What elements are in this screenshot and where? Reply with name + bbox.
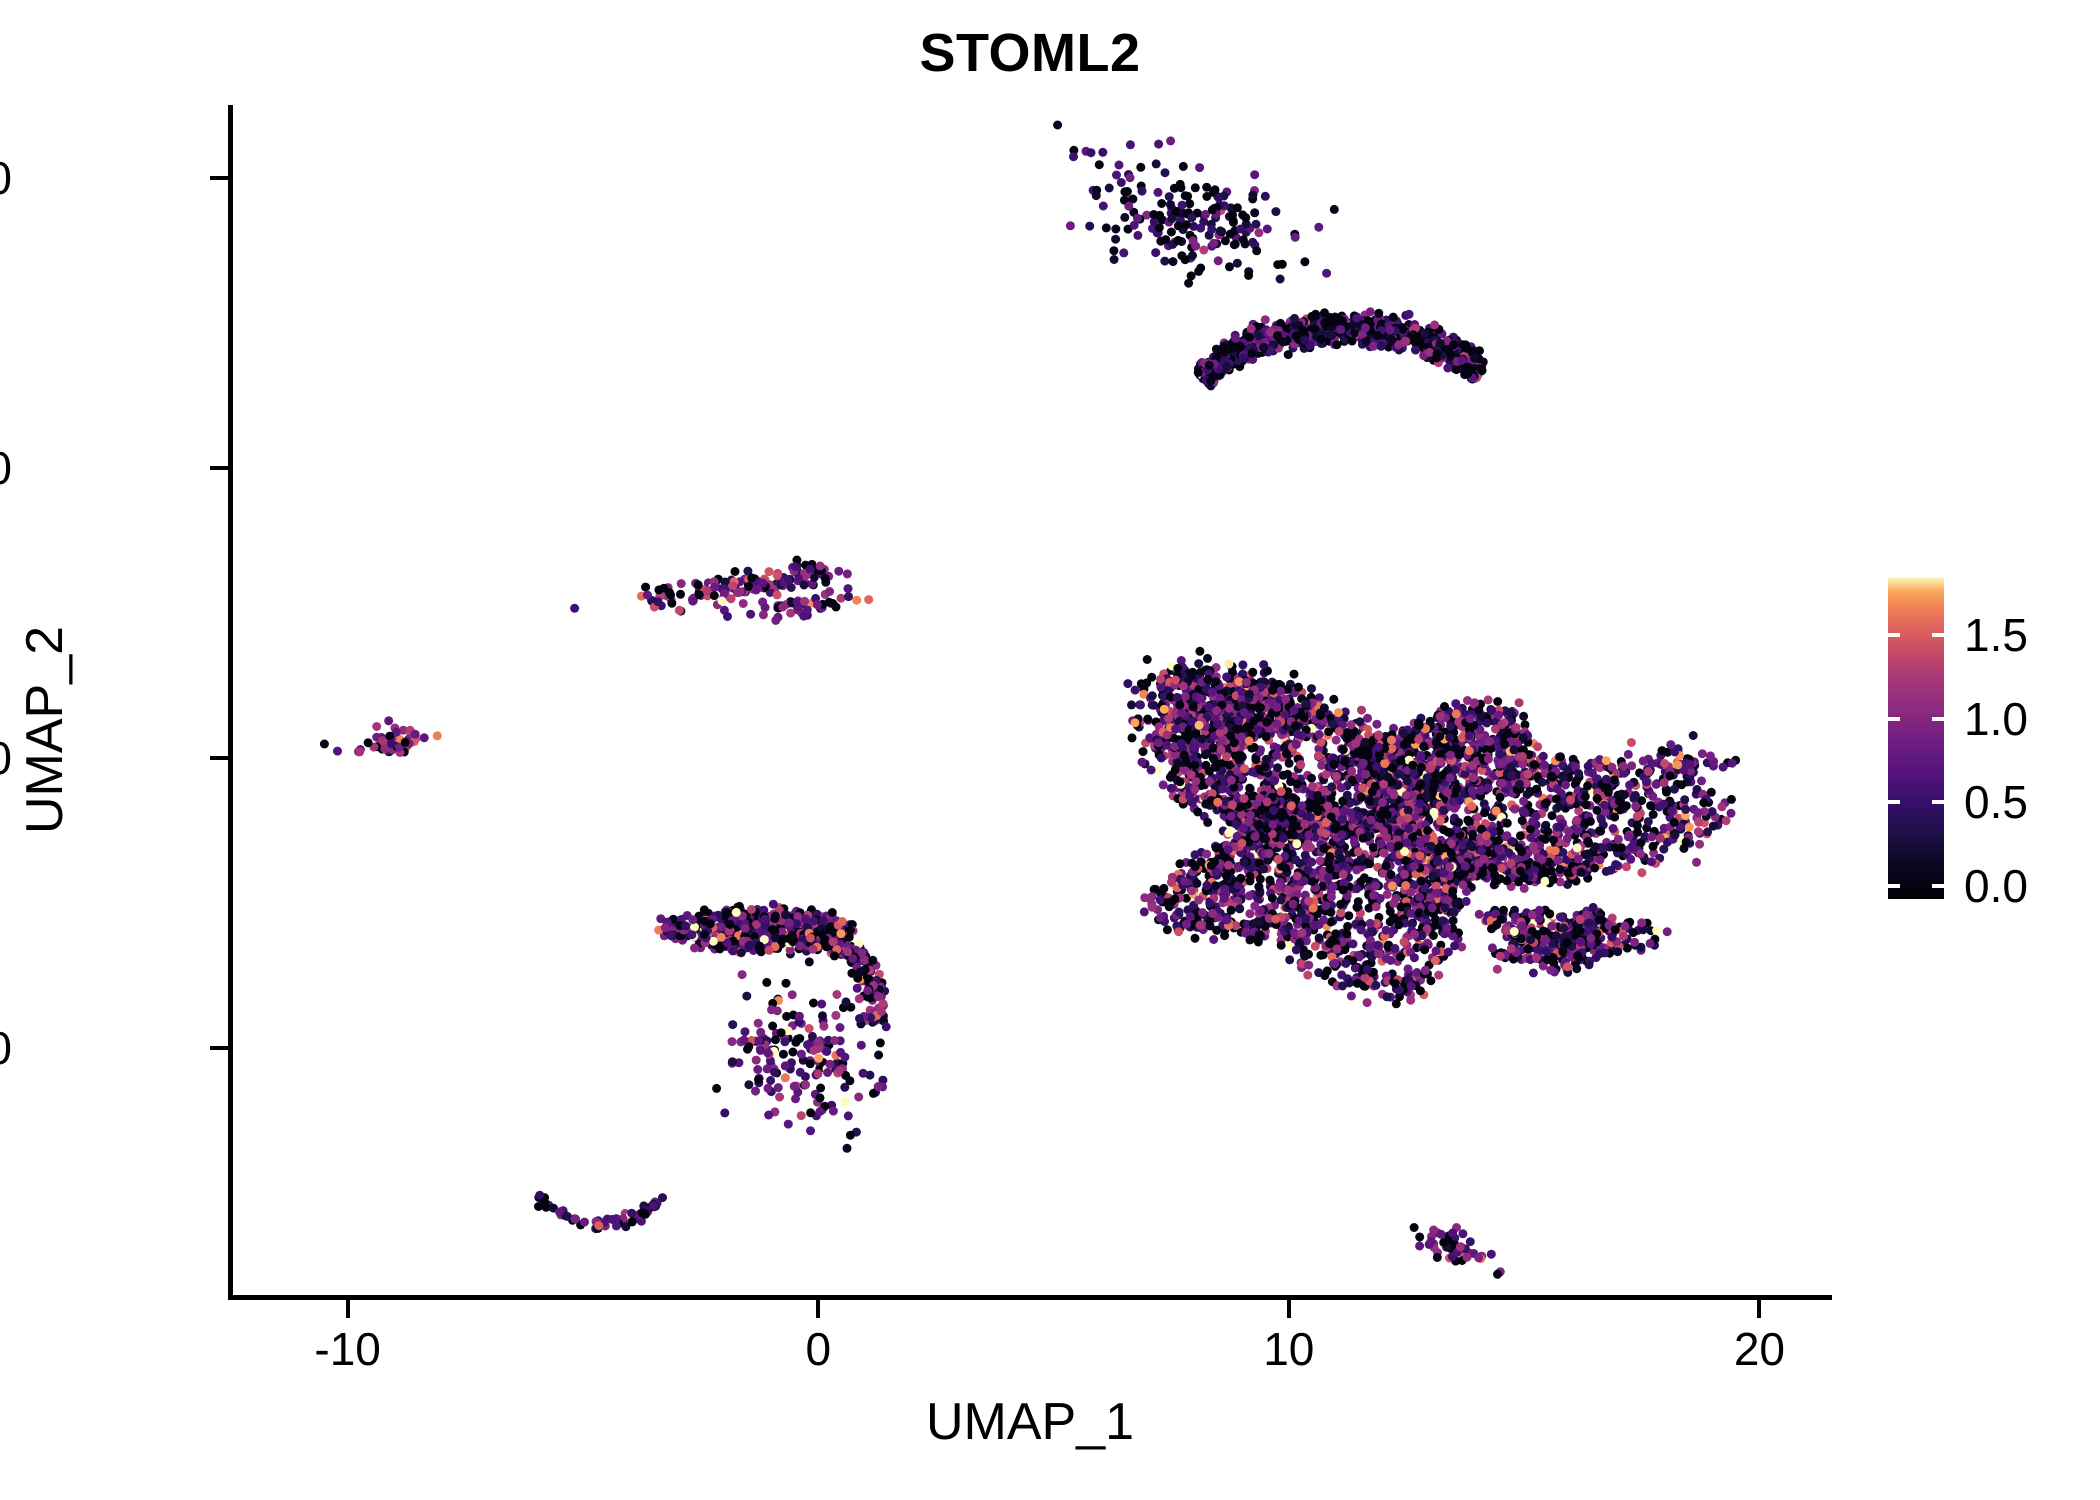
y-tick-mark [210, 176, 228, 180]
page-title: STOML2 [0, 22, 2060, 84]
y-tick-label: -10 [0, 1021, 12, 1075]
x-tick-mark [1287, 1300, 1291, 1318]
x-tick-label: -10 [314, 1322, 380, 1376]
colorbar-tick-mark [1932, 717, 1944, 721]
y-tick-label: 20 [0, 151, 12, 205]
y-tick-mark [210, 466, 228, 470]
chart-root: STOML2 -1001020 -1001020 UMAP_1 UMAP_2 0… [0, 0, 2100, 1500]
x-tick-label: 0 [805, 1322, 831, 1376]
colorbar: 0.00.51.01.5 [1888, 577, 2058, 899]
x-axis-line [228, 1295, 1832, 1300]
colorbar-tick-mark [1932, 884, 1944, 888]
x-tick-mark [816, 1300, 820, 1318]
colorbar-gradient [1888, 577, 1944, 899]
colorbar-tick-label: 1.0 [1964, 692, 2028, 746]
plot-panel [230, 105, 1830, 1295]
scatter-points-layer [230, 105, 1830, 1295]
x-tick-mark [346, 1300, 350, 1318]
colorbar-tick-mark [1888, 800, 1900, 804]
x-tick-label: 20 [1734, 1322, 1785, 1376]
colorbar-tick-label: 1.5 [1964, 608, 2028, 662]
colorbar-tick-label: 0.0 [1964, 859, 2028, 913]
colorbar-tick-mark [1888, 884, 1900, 888]
colorbar-tick-mark [1888, 633, 1900, 637]
y-axis-label: UMAP_2 [15, 430, 75, 1030]
x-axis-label: UMAP_1 [0, 1392, 2060, 1452]
colorbar-tick-label: 0.5 [1964, 775, 2028, 829]
y-axis-line [228, 105, 233, 1300]
x-tick-label: 10 [1263, 1322, 1314, 1376]
y-tick-label: 10 [0, 441, 12, 495]
colorbar-tick-mark [1932, 800, 1944, 804]
colorbar-tick-mark [1932, 633, 1944, 637]
y-tick-mark [210, 756, 228, 760]
y-tick-label: 0 [0, 731, 12, 785]
x-tick-mark [1757, 1300, 1761, 1318]
colorbar-tick-mark [1888, 717, 1900, 721]
y-tick-mark [210, 1046, 228, 1050]
